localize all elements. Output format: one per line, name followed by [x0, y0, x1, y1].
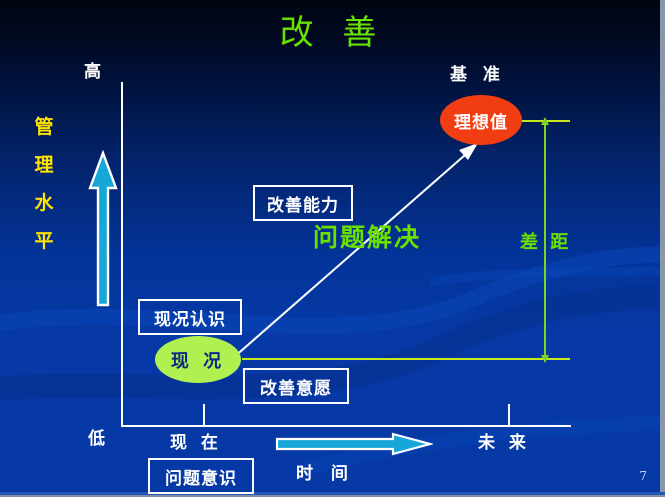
x-axis-line	[121, 425, 571, 427]
y-axis-caption-management-level: 管 理 水 平	[30, 108, 58, 260]
box-problem-awareness-label: 问题意识	[165, 464, 237, 489]
ideal-value-label: 理想值	[454, 108, 508, 133]
box-current-recognition[interactable]: 现况认识	[138, 299, 242, 335]
annotation-problem-solving: 问题解决	[313, 218, 421, 254]
upward-arrow-icon	[88, 150, 118, 310]
slide-right-edge	[660, 0, 665, 497]
page-title: 改 善	[0, 16, 665, 50]
current-state-label: 现 况	[171, 347, 225, 373]
y-caption-char-3: 平	[30, 222, 58, 260]
box-improvement-will-label: 改善意愿	[260, 374, 332, 399]
benchmark-label: 基 准	[450, 60, 505, 85]
box-improvement-will[interactable]: 改善意愿	[243, 368, 349, 404]
slide-canvas: 改 善 高 低 现 在 未 来 时 间 管 理 水 平 基 准 理想值 现	[0, 0, 665, 497]
y-axis-label-low: 低	[88, 424, 109, 449]
x-axis-label-future: 未 来	[478, 428, 530, 453]
annotation-gap: 差 距	[520, 228, 571, 254]
box-problem-awareness[interactable]: 问题意识	[148, 458, 254, 494]
y-axis-line	[121, 82, 123, 426]
box-current-recognition-label: 现况认识	[154, 305, 226, 330]
time-direction-arrow	[275, 432, 433, 456]
x-axis-tick-present	[203, 404, 205, 426]
x-axis-label-present: 现 在	[170, 428, 222, 453]
y-axis-label-high: 高	[84, 57, 105, 82]
box-improvement-capability-label: 改善能力	[267, 191, 339, 216]
page-number: 7	[639, 469, 647, 483]
y-caption-char-0: 管	[30, 108, 58, 146]
y-caption-char-2: 水	[30, 184, 58, 222]
current-state-node[interactable]: 现 况	[155, 336, 241, 383]
x-axis-caption-time: 时 间	[296, 459, 354, 484]
y-caption-char-1: 理	[30, 146, 58, 184]
guide-line-bottom	[242, 358, 570, 360]
ideal-value-node[interactable]: 理想值	[440, 95, 522, 145]
box-improvement-capability[interactable]: 改善能力	[253, 185, 353, 221]
x-axis-tick-future	[508, 404, 510, 426]
